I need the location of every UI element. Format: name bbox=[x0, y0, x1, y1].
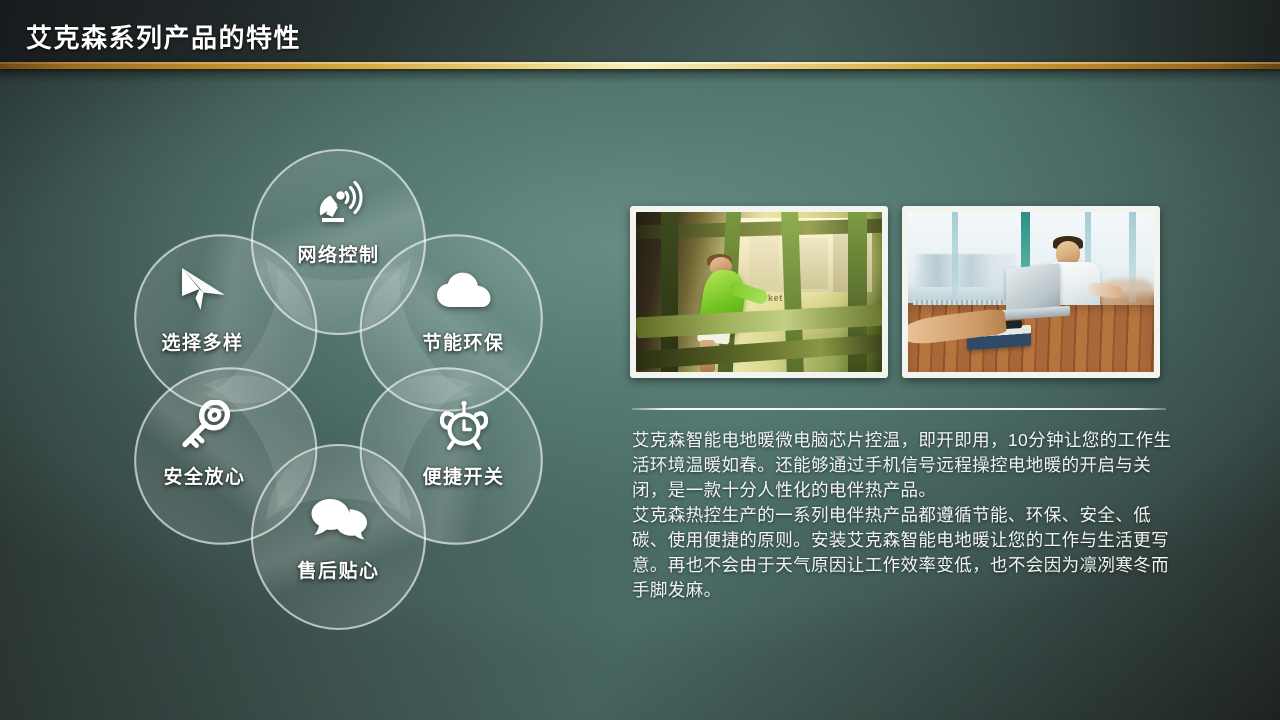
photo-image: Market bbox=[636, 212, 882, 372]
photo-building bbox=[749, 228, 779, 286]
text-divider-line bbox=[632, 408, 1166, 410]
right-content-column: Market bbox=[630, 206, 1174, 378]
man-with-laptop-photo bbox=[902, 206, 1160, 378]
body-paragraph-2: 艾克森热控生产的一系列电伴热产品都遵循节能、环保、安全、低碳、使用便捷的原则。安… bbox=[632, 503, 1172, 603]
gold-divider-rule bbox=[0, 62, 1280, 69]
photo-window-mullion bbox=[952, 212, 958, 302]
petal-glass-svg bbox=[84, 182, 364, 462]
page-title: 艾克森系列产品的特性 bbox=[26, 18, 301, 55]
photo-image bbox=[908, 212, 1154, 372]
petal-shape bbox=[84, 182, 364, 462]
petal-diverse-choice[interactable]: 选择多样 bbox=[122, 220, 327, 425]
header-drop-shadow bbox=[0, 69, 1280, 83]
feature-petal-diagram: 网络控制 节能环保 bbox=[78, 132, 618, 672]
body-text-block: 艾克森智能电地暖微电脑芯片控温，即开即用，10分钟让您的工作生活环境温暖如春。还… bbox=[632, 428, 1172, 603]
slide-canvas: 艾克森系列产品的特性 bbox=[0, 0, 1280, 720]
photo-row: Market bbox=[630, 206, 1174, 378]
woman-on-walkway-photo: Market bbox=[630, 206, 888, 378]
body-paragraph-1: 艾克森智能电地暖微电脑芯片控温，即开即用，10分钟让您的工作生活环境温暖如春。还… bbox=[632, 428, 1172, 503]
photo-skyline bbox=[913, 254, 1016, 289]
